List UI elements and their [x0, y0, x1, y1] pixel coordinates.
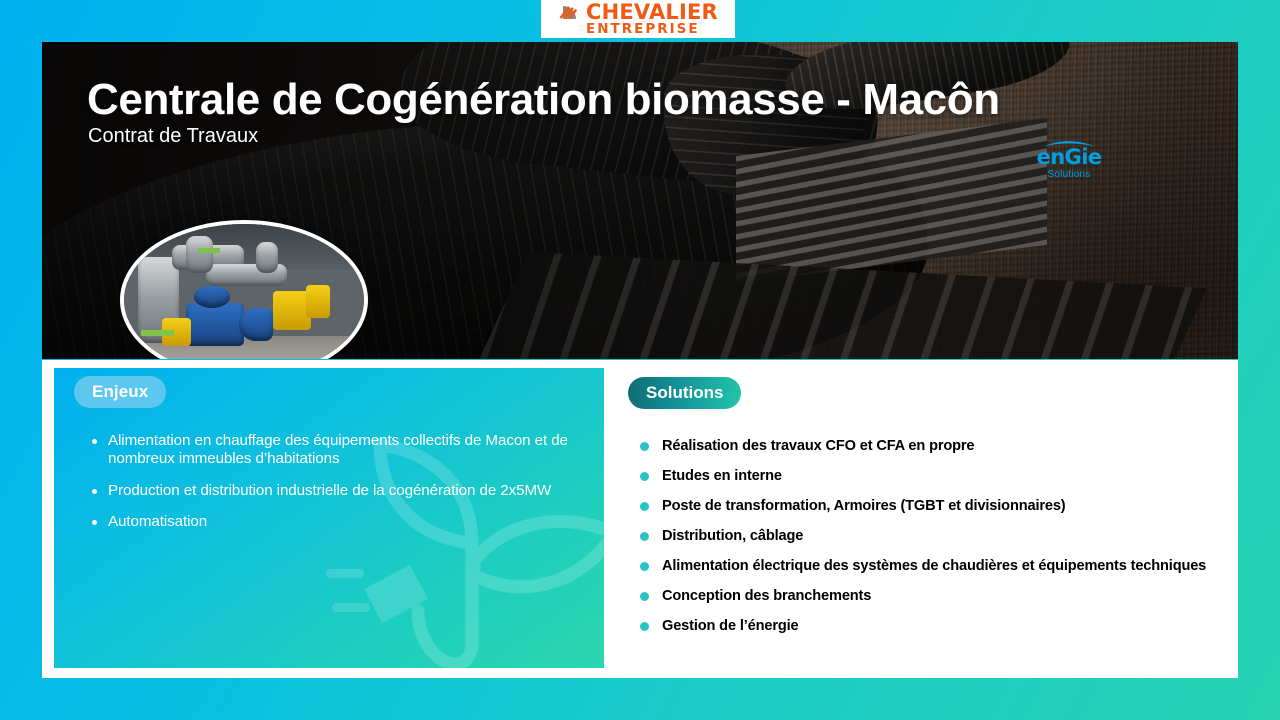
page-subtitle: Contrat de Travaux — [88, 125, 258, 148]
photo-tape-green-2 — [198, 248, 220, 253]
list-item: Etudes en interne — [640, 468, 1228, 486]
list-item: Réalisation des travaux CFO et CFA en pr… — [640, 438, 1228, 456]
list-item: Poste de transformation, Armoires (TGBT … — [640, 498, 1228, 516]
page-title: Centrale de Cogénération biomasse - Macô… — [87, 75, 1000, 125]
engie-wordmark: enGie — [1037, 147, 1102, 168]
chevalier-logo-text: CHEVALIER ENTREPRISE — [586, 2, 718, 37]
list-item: Distribution, câblage — [640, 528, 1228, 546]
engie-tagline: Solutions — [1048, 169, 1091, 180]
list-item: Conception des branchements — [640, 588, 1228, 606]
list-item: Alimentation en chauffage des équipement… — [88, 432, 584, 469]
chevalier-logo: CHEVALIER ENTREPRISE — [541, 0, 735, 38]
list-item: Automatisation — [88, 513, 584, 531]
logo-line-1: CHEVALIER — [586, 2, 718, 23]
solutions-badge: Solutions — [628, 377, 741, 409]
list-item: Production et distribution industrielle … — [88, 482, 584, 500]
solutions-panel: Solutions Réalisation des travaux CFO et… — [628, 368, 1228, 668]
photo-pump-yellow-3 — [306, 285, 330, 318]
list-item: Gestion de l’énergie — [640, 618, 1228, 636]
chevalier-c-mark — [546, 3, 580, 35]
enjeux-badge: Enjeux — [74, 376, 166, 408]
pump-room-photo-inset — [120, 220, 368, 359]
pump-room-image — [124, 224, 364, 359]
photo-pipe-5 — [256, 242, 278, 272]
enjeux-list: Alimentation en chauffage des équipement… — [88, 432, 584, 545]
list-item: Alimentation électrique des systèmes de … — [640, 558, 1228, 576]
header-banner: Centrale de Cogénération biomasse - Macô… — [42, 42, 1238, 359]
content-card: Enjeux Alimentation en chauffage des équ… — [42, 360, 1238, 678]
engie-solutions-logo: enGie Solutions — [1030, 138, 1108, 180]
enjeux-panel: Enjeux Alimentation en chauffage des équ… — [54, 368, 604, 668]
photo-tape-green-1 — [141, 330, 175, 336]
solutions-list: Réalisation des travaux CFO et CFA en pr… — [640, 438, 1228, 648]
photo-motor-blue-1 — [186, 303, 244, 346]
photo-pump-head — [194, 286, 230, 307]
photo-pipe-4 — [186, 236, 212, 272]
photo-motor-blue-2 — [239, 308, 273, 341]
logo-line-2: ENTREPRISE — [586, 23, 718, 37]
